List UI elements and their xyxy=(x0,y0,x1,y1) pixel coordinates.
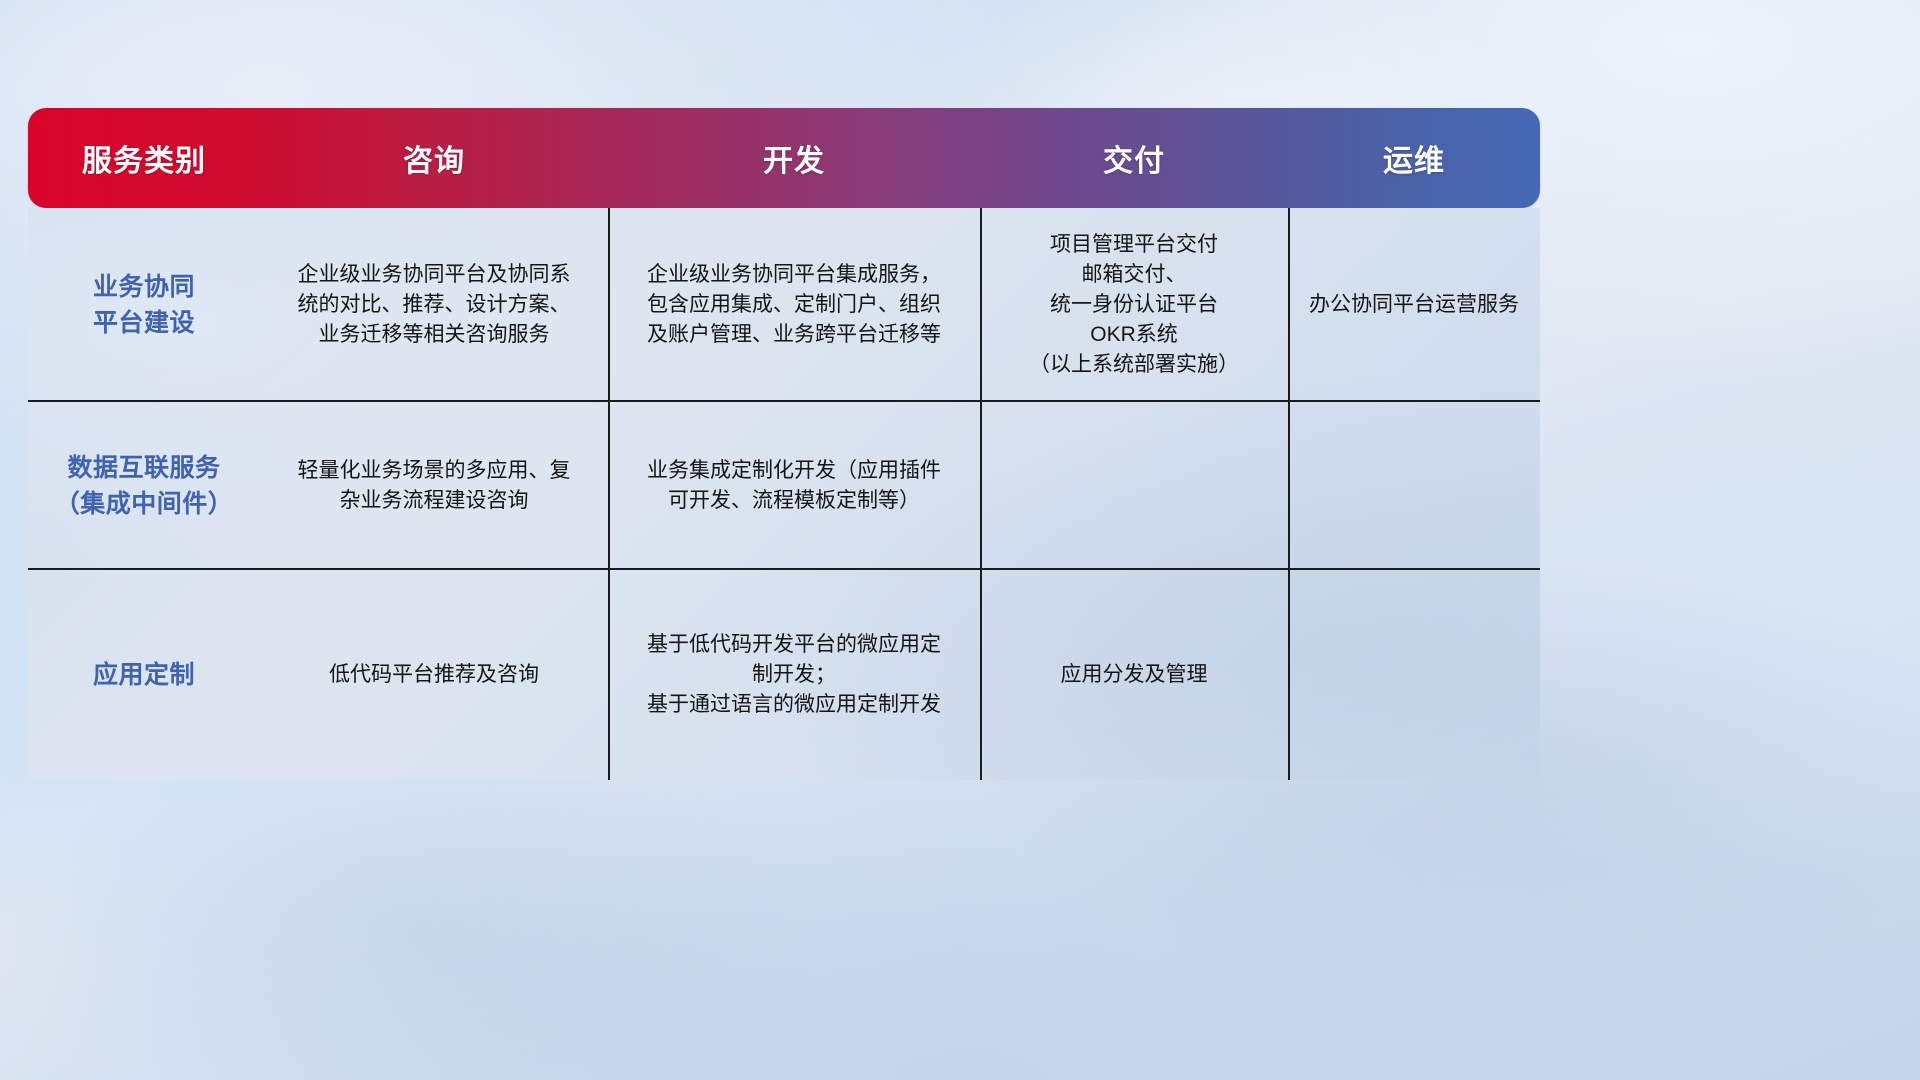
column-divider-2 xyxy=(980,570,982,780)
cell-r0-delivery: 项目管理平台交付 邮箱交付、 统一身份认证平台 OKR系统 （以上系统部署实施） xyxy=(980,208,1288,402)
column-header-delivery: 交付 xyxy=(980,136,1288,180)
column-divider-1 xyxy=(608,402,610,570)
cell-r1-operations xyxy=(1288,402,1540,570)
column-divider-2 xyxy=(980,208,982,402)
cell-r0-development: 企业级业务协同平台集成服务， 包含应用集成、定制门户、组织 及账户管理、业务跨平… xyxy=(608,208,980,402)
table-body: 业务协同 平台建设 企业级业务协同平台及协同系 统的对比、推荐、设计方案、 业务… xyxy=(28,208,1540,780)
column-divider-3 xyxy=(1288,570,1290,780)
column-header-consulting: 咨询 xyxy=(260,136,608,180)
row-label-app-customization: 应用定制 xyxy=(28,570,260,780)
cell-r2-development: 基于低代码开发平台的微应用定 制开发； 基于通过语言的微应用定制开发 xyxy=(608,570,980,780)
cell-r0-consulting: 企业级业务协同平台及协同系 统的对比、推荐、设计方案、 业务迁移等相关咨询服务 xyxy=(260,208,608,402)
column-divider-1 xyxy=(608,208,610,402)
column-header-category: 服务类别 xyxy=(28,136,260,180)
table-row: 数据互联服务 （集成中间件） 轻量化业务场景的多应用、复 杂业务流程建设咨询 业… xyxy=(28,402,1540,570)
cell-r2-operations xyxy=(1288,570,1540,780)
cell-r2-consulting: 低代码平台推荐及咨询 xyxy=(260,570,608,780)
service-matrix-table: 服务类别 咨询 开发 交付 运维 业务协同 平台建设 企业级业务协同平台及协同系… xyxy=(28,108,1540,780)
column-divider-3 xyxy=(1288,402,1290,570)
cell-r1-consulting: 轻量化业务场景的多应用、复 杂业务流程建设咨询 xyxy=(260,402,608,570)
column-divider-1 xyxy=(608,570,610,780)
cell-r1-development: 业务集成定制化开发（应用插件 可开发、流程模板定制等） xyxy=(608,402,980,570)
column-divider-2 xyxy=(980,402,982,570)
column-divider-3 xyxy=(1288,208,1290,402)
column-header-development: 开发 xyxy=(608,136,980,180)
table-header-row: 服务类别 咨询 开发 交付 运维 xyxy=(28,108,1540,208)
table-row: 业务协同 平台建设 企业级业务协同平台及协同系 统的对比、推荐、设计方案、 业务… xyxy=(28,208,1540,402)
column-header-operations: 运维 xyxy=(1288,136,1540,180)
cell-r2-delivery: 应用分发及管理 xyxy=(980,570,1288,780)
table-row: 应用定制 低代码平台推荐及咨询 基于低代码开发平台的微应用定 制开发； 基于通过… xyxy=(28,570,1540,780)
row-label-business-collaboration: 业务协同 平台建设 xyxy=(28,208,260,402)
cell-r1-delivery xyxy=(980,402,1288,570)
cell-r0-operations: 办公协同平台运营服务 xyxy=(1288,208,1540,402)
row-label-data-interconnect: 数据互联服务 （集成中间件） xyxy=(28,402,260,570)
